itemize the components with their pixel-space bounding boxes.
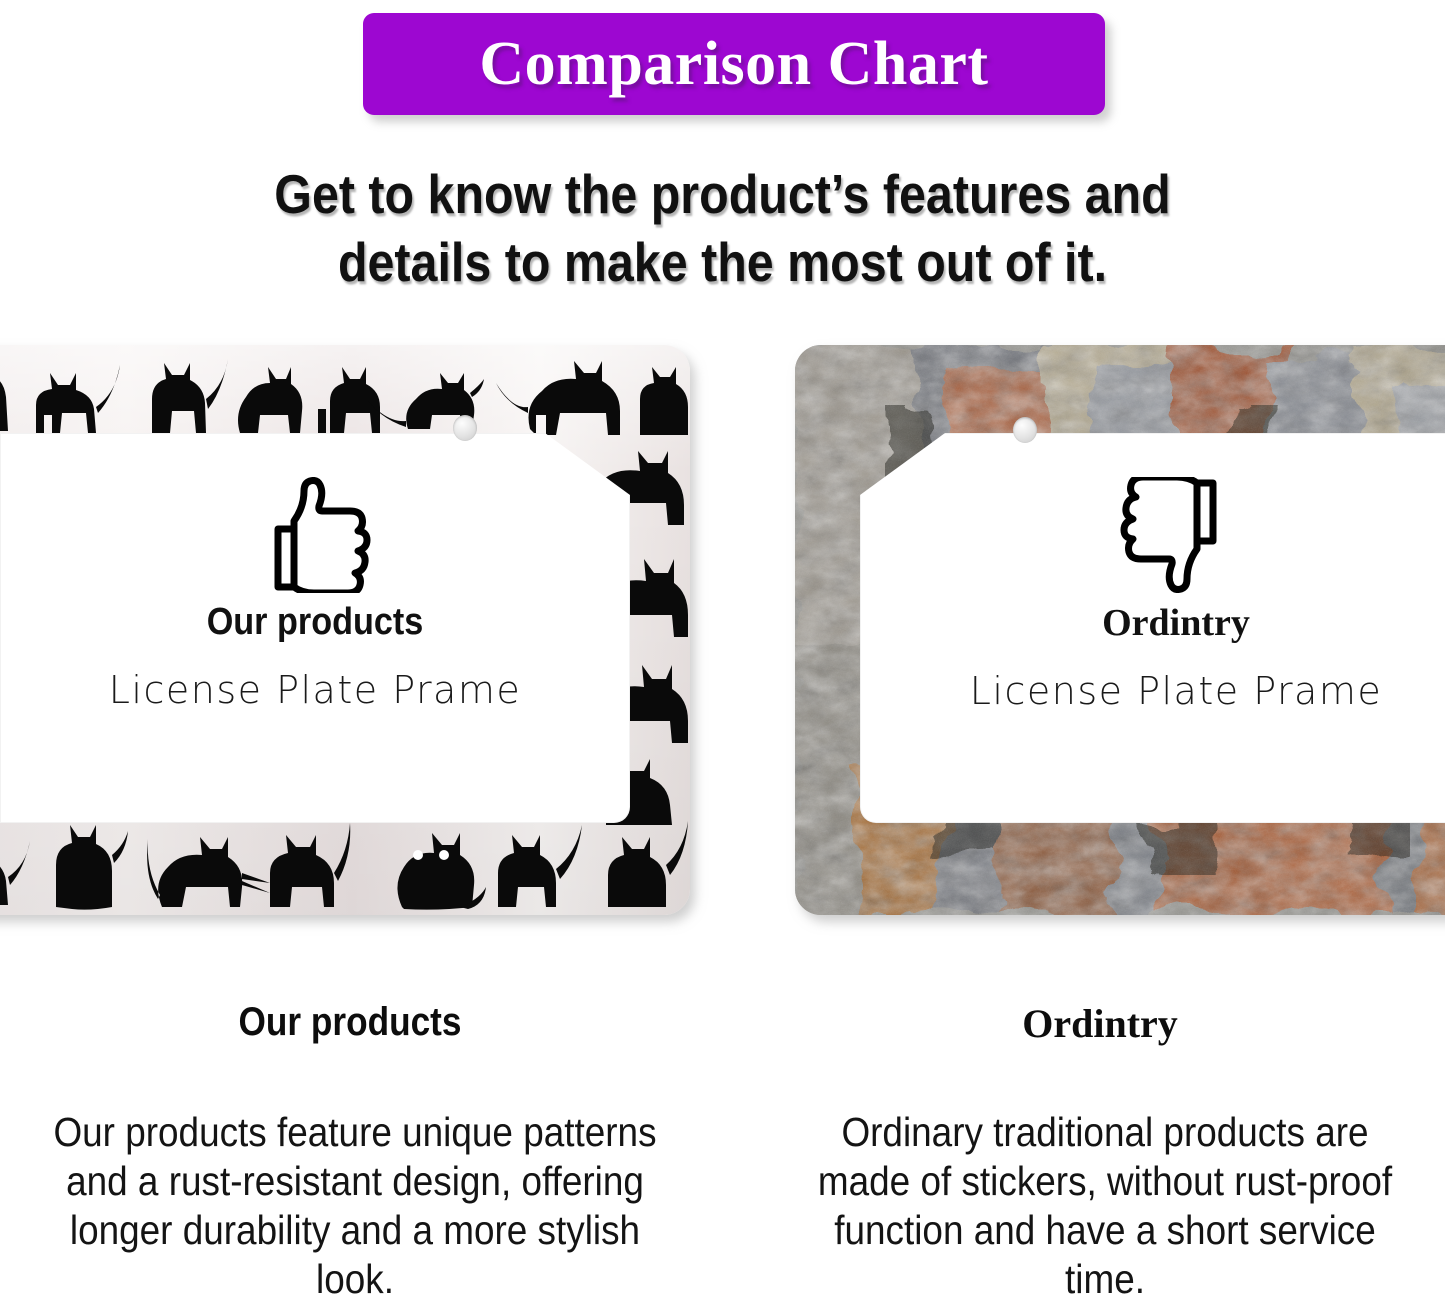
comparison-frames-row: Our products License Plate Prame xyxy=(0,345,1445,935)
our-product-panel: Our products License Plate Prame xyxy=(0,477,630,712)
subtitle-line-2: details to make the most out of it. xyxy=(87,228,1359,296)
subtitle-line-1: Get to know the product’s features and xyxy=(87,160,1359,228)
our-product-subtitle: License Plate Prame xyxy=(0,668,630,712)
comparison-chart-banner: Comparison Chart xyxy=(363,13,1105,115)
cat-pattern-top xyxy=(0,349,690,437)
our-product-title: Our products xyxy=(32,601,599,644)
subtitle-block: Get to know the product’s features and d… xyxy=(87,160,1359,296)
ordinary-plate-window: Ordintry License Plate Prame xyxy=(860,433,1445,823)
ordinary-caption-heading: Ordintry xyxy=(770,1000,1430,1047)
mounting-hole-left xyxy=(453,415,477,441)
ordinary-caption-body: Ordinary traditional products are made o… xyxy=(795,1108,1416,1304)
ordinary-title: Ordintry xyxy=(860,601,1445,645)
page-title: Comparison Chart xyxy=(479,29,988,100)
our-product-plate-window: Our products License Plate Prame xyxy=(0,433,630,823)
thumbs-up-icon xyxy=(256,477,374,593)
our-product-license-plate-frame: Our products License Plate Prame xyxy=(0,345,690,915)
ordinary-subtitle: License Plate Prame xyxy=(860,669,1445,713)
ordinary-license-plate-frame: Ordintry License Plate Prame xyxy=(795,345,1445,915)
our-product-caption-body: Our products feature unique patterns and… xyxy=(45,1108,666,1304)
thumbs-down-icon xyxy=(1117,477,1235,593)
ordinary-panel: Ordintry License Plate Prame xyxy=(860,477,1445,713)
cat-pattern-bottom xyxy=(0,811,690,911)
our-product-caption-heading: Our products xyxy=(60,1000,641,1045)
mounting-hole-right xyxy=(1013,417,1037,443)
